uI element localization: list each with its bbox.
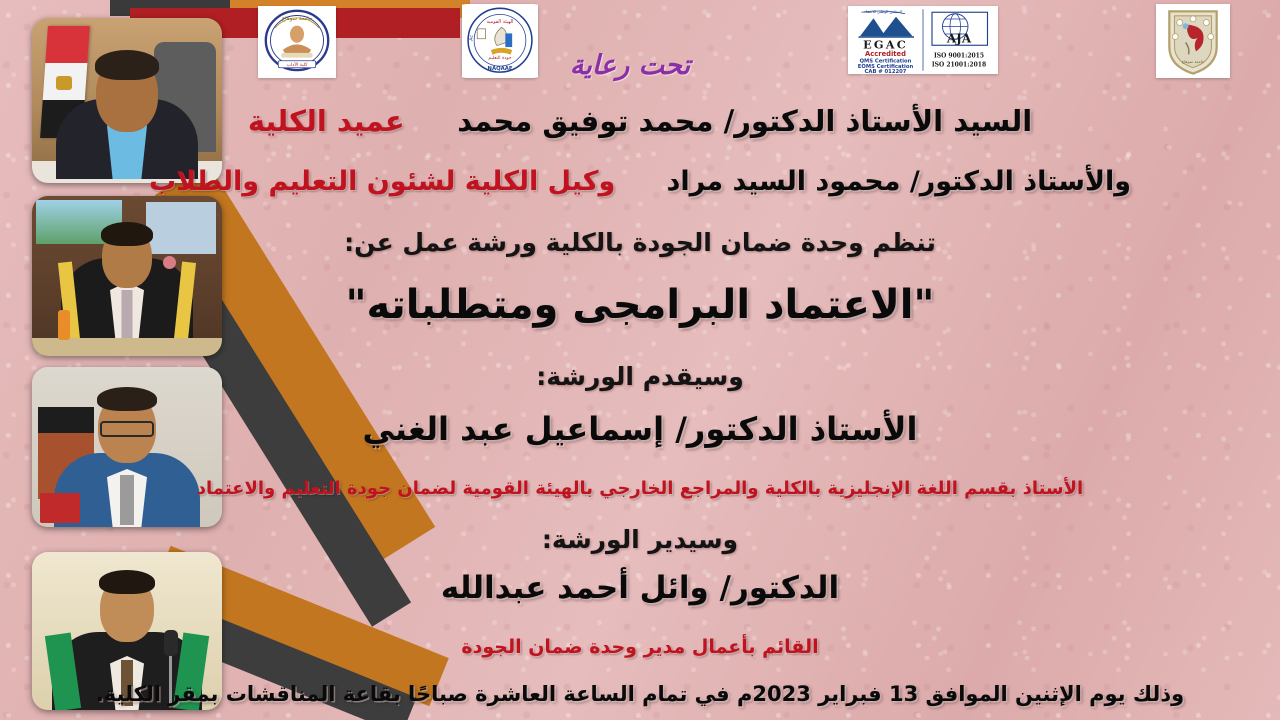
organizer-line: تنظم وحدة ضمان الجودة بالكلية ورشة عمل ع… (0, 228, 1280, 257)
presenter-label: وسيقدم الورشة: (0, 362, 1280, 391)
event-datetime-footer: وذلك يوم الإثنين الموافق 13 فبراير 2023م… (0, 682, 1280, 706)
presenter-name: الأستاذ الدكتور/ إسماعيل عبد الغني (0, 410, 1280, 448)
moderator-label: وسيدير الورشة: (0, 525, 1280, 554)
dean-name: السيد الأستاذ الدكتور/ محمد توفيق محمد (457, 104, 1032, 138)
dean-role: عميد الكلية (248, 104, 405, 138)
workshop-title: "الاعتماد البرامجى ومتطلباته" (0, 282, 1280, 328)
svg-text:جامعة سوهاج: جامعة سوهاج (282, 16, 313, 22)
workshop-poster: جامعة سوهاج كلية الآداب National Authori… (0, 0, 1280, 720)
vice-dean-line: والأستاذ الدكتور/ محمود السيد مراد وكيل … (0, 166, 1280, 197)
moderator-name: الدكتور/ وائل أحمد عبدالله (0, 570, 1280, 606)
presenter-subtitle: الأستاذ بقسم اللغة الإنجليزية بالكلية وا… (0, 478, 1280, 499)
svg-text:المجلس الوطني للاعتماد: المجلس الوطني للاعتماد (864, 10, 902, 14)
photo-dean (32, 18, 222, 183)
svg-text:الهيئة القومية: الهيئة القومية (486, 19, 513, 25)
dean-line: السيد الأستاذ الدكتور/ محمد توفيق محمد ع… (0, 104, 1280, 138)
moderator-subtitle: القائم بأعمال مدير وحدة ضمان الجودة (0, 636, 1280, 658)
svg-text:AJA: AJA (946, 31, 972, 45)
vice-dean-role: وكيل الكلية لشئون التعليم والطلاب (149, 166, 615, 197)
vice-dean-name: والأستاذ الدكتور/ محمود السيد مراد (666, 166, 1131, 197)
photo-vice-dean (32, 196, 222, 356)
patronage-text: تحت رعاية (0, 50, 1270, 81)
